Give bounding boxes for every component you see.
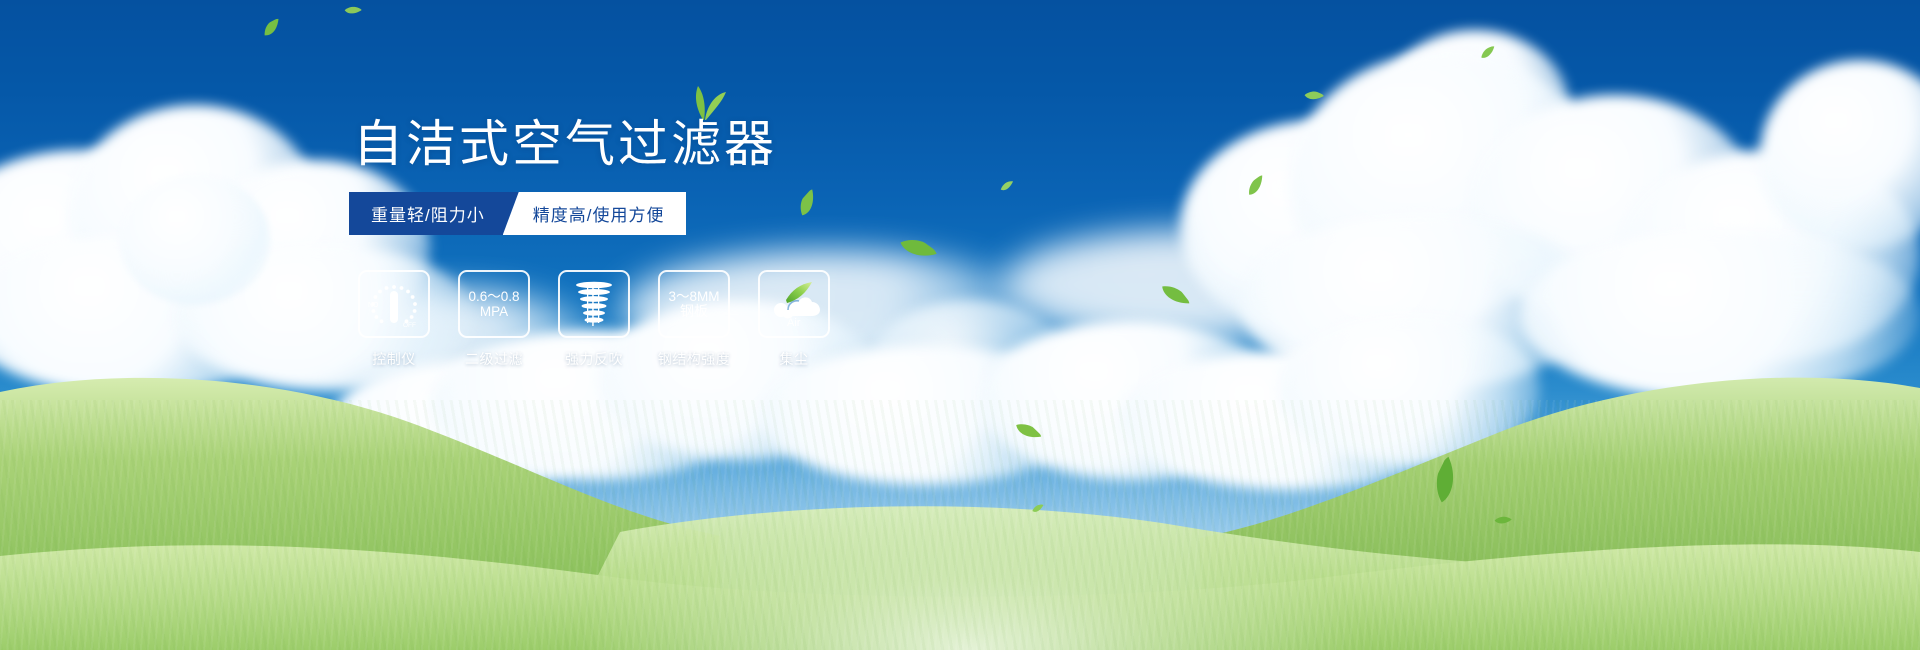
feature-label: 集尘 (780, 349, 809, 369)
feature-label: 钢结构强度 (658, 349, 731, 369)
steel-plate-text-icon: 3～8MM 钢板 (658, 270, 730, 338)
pressure-unit-value: MPA (480, 304, 508, 319)
feature-list: NO OFF 控制仪 0.6～0.8 MPA 二级过滤 (358, 270, 830, 369)
svg-text:OFF: OFF (403, 322, 416, 329)
feature-label: 强力反吹 (565, 349, 623, 369)
banner-content: 自洁式空气过滤器 重量轻/阻力小 精度高/使用方便 (0, 0, 1920, 650)
tag-item-precision: 精度高/使用方便 (503, 192, 687, 235)
feature-item-dust[interactable]: Air 集尘 (758, 270, 830, 369)
control-dial-icon: NO OFF (358, 270, 430, 338)
air-cloud-icon: Air (758, 270, 830, 338)
tag-item-lightweight: 重量轻/阻力小 (349, 192, 519, 235)
pressure-range-value: 0.6～0.8 (468, 289, 519, 304)
feature-label: 控制仪 (372, 349, 416, 369)
page-title: 自洁式空气过滤器 (353, 119, 777, 169)
air-label-text: Air (787, 317, 801, 328)
feature-label: 二级过滤 (465, 349, 523, 369)
steel-material-value: 钢板 (680, 304, 708, 320)
backblow-coil-icon (558, 270, 630, 338)
hero-banner: 自洁式空气过滤器 重量轻/阻力小 精度高/使用方便 (0, 0, 1920, 650)
tag-bar: 重量轻/阻力小 精度高/使用方便 (349, 192, 686, 235)
feature-item-steel[interactable]: 3～8MM 钢板 钢结构强度 (658, 270, 730, 369)
feature-item-filter[interactable]: 0.6～0.8 MPA 二级过滤 (458, 270, 530, 369)
pressure-text-icon: 0.6～0.8 MPA (458, 270, 530, 338)
feature-item-backblow[interactable]: 强力反吹 (558, 270, 630, 369)
steel-thickness-value: 3～8MM (668, 289, 719, 304)
feature-item-control[interactable]: NO OFF 控制仪 (358, 270, 430, 369)
svg-text:NO: NO (368, 302, 379, 309)
